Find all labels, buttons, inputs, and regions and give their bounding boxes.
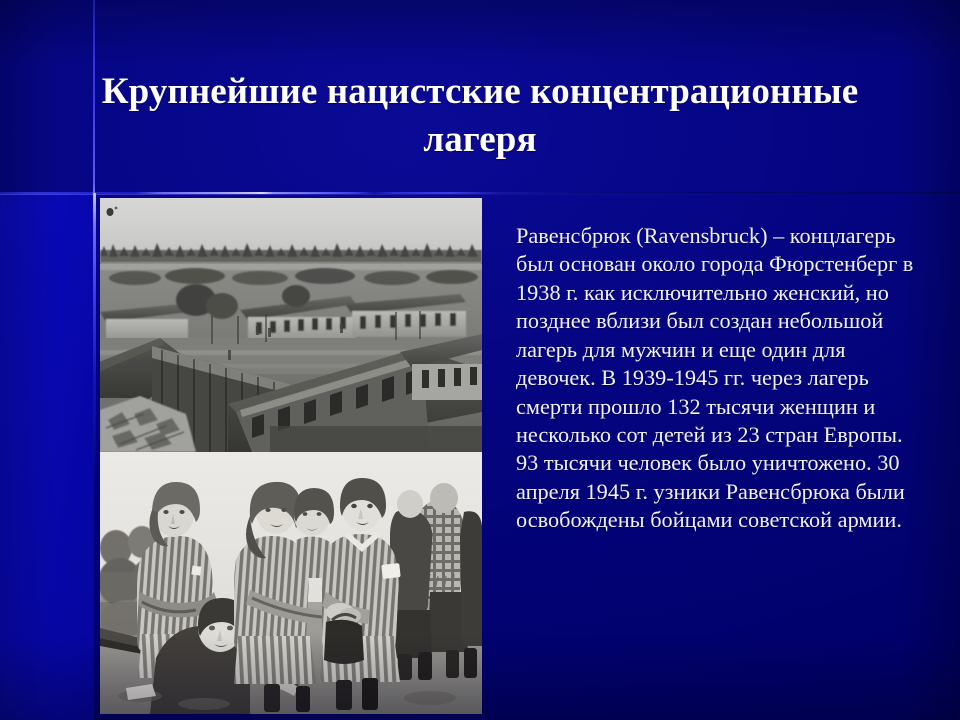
horizontal-accent-line-glow — [0, 194, 960, 195]
camp-barracks-illustration — [100, 198, 482, 452]
photo-grain — [100, 198, 482, 452]
camp-barracks-photo — [100, 198, 482, 452]
right-figures — [390, 483, 482, 680]
presentation-slide: Крупнейшие нацистские концентрационные л… — [0, 0, 960, 720]
women-prisoners-photo — [100, 452, 482, 714]
women-prisoners-illustration — [100, 452, 482, 714]
slide-title-line-2: лагеря — [38, 116, 922, 164]
vertical-accent-line-lower — [93, 193, 96, 493]
left-accent-panel — [0, 193, 94, 720]
scan-artifact — [107, 208, 114, 216]
slide-body-text: Равенсбрюк (Ravensbruck) – концлагерь бы… — [516, 222, 916, 535]
slide-title-line-1: Крупнейшие нацистские концентрационные — [38, 68, 922, 116]
slide-title: Крупнейшие нацистские концентрационные л… — [38, 68, 922, 164]
